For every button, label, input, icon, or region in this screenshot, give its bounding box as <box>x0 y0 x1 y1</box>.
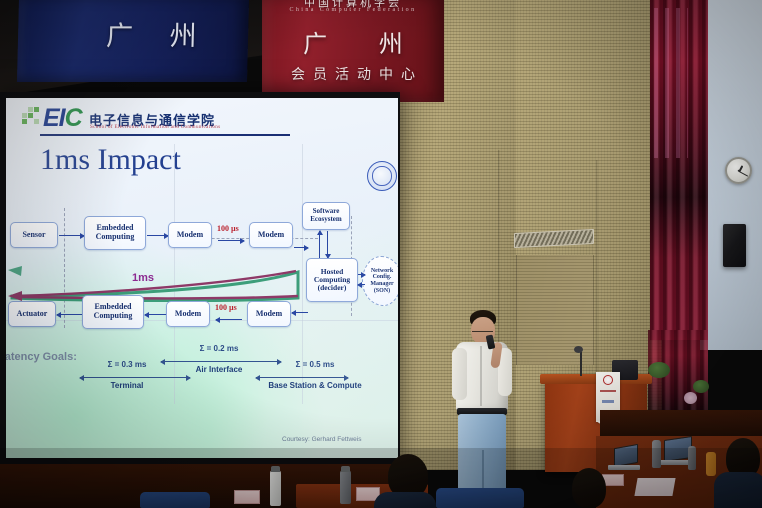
pennant-line-2 <box>602 400 614 403</box>
courtesy-credit: Courtesy: Gerhard Fettweis <box>282 436 361 443</box>
banner-red-org-en: China Computer Federation <box>262 7 444 13</box>
curtain-light <box>654 8 688 158</box>
latency-bar-terminal <box>80 377 190 378</box>
diagram-box-modem-bottom-left: Modem <box>166 301 210 327</box>
podium-mic-head <box>574 346 583 353</box>
label-1ms: 1ms <box>132 272 154 284</box>
podium-plant-2 <box>693 380 709 393</box>
banner-red-city: 广 州 <box>262 24 444 59</box>
eic-divider <box>40 134 290 136</box>
arrow-embedded-to-modem-top <box>147 235 168 236</box>
diagram-box-modem-bottom-right: Modem <box>247 301 291 327</box>
diagram-box-modem-top-left: Modem <box>168 222 212 248</box>
latency-name-basestation: Base Station & Compute <box>250 381 380 390</box>
presentation-slide: EIC 电子信息与通信学院 School of Electronic Infor… <box>6 98 398 458</box>
arrow-100us-bottom <box>216 319 242 320</box>
wall-speaker <box>723 224 746 267</box>
latency-value-air: Σ = 0.2 ms <box>154 344 284 353</box>
label-100us-bottom: 100 µs <box>215 303 237 312</box>
arrow-hosted-to-ecosystem <box>319 231 320 258</box>
arrow-100us-top <box>218 240 244 241</box>
latency-goals-heading: Latency Goals: <box>6 351 77 363</box>
diagram-box-embedded-bottom: EmbeddedComputing <box>82 295 144 329</box>
diagram-box-hosted-computing: HostedComputing(decider) <box>306 258 358 302</box>
university-seal <box>367 161 397 191</box>
label-100us-top: 100 µs <box>217 224 239 233</box>
arrow-ecosystem-to-hosted <box>327 231 328 258</box>
diagram-box-embedded-top: EmbeddedComputing <box>84 216 146 250</box>
arrow-hosted-to-cloud <box>358 284 365 285</box>
pennant-line-1 <box>600 390 616 392</box>
banner-red-venue: 会员活动中心 <box>262 64 444 84</box>
clock-center-pin <box>737 169 740 172</box>
diagram-box-modem-top-right: Modem <box>249 222 293 248</box>
projection-screen-frame: EIC 电子信息与通信学院 School of Electronic Infor… <box>0 92 400 464</box>
presenter-glasses <box>472 327 493 332</box>
eic-acronym-c: C <box>65 104 82 133</box>
diagram-cloud-network-manager: NetworkConfig.Manager(SON) <box>362 256 398 306</box>
shirt-placket <box>480 346 482 406</box>
presenter-arm-left <box>452 348 467 400</box>
banner-blue-guangzhou: 广 州 <box>17 0 249 82</box>
podium-plant <box>648 362 670 378</box>
wall-clock <box>725 157 752 184</box>
conference-hall-photo: 广 州 中国计算机学会 China Computer Federation 广 … <box>0 0 762 508</box>
eic-logo: EIC <box>43 104 82 133</box>
arrow-hosted-to-modem-bottom <box>292 312 308 313</box>
pennant-emblem <box>603 375 613 385</box>
slide-title: 1ms Impact <box>40 143 181 177</box>
eic-logo-squares <box>22 107 39 124</box>
podium-mic-stand <box>580 352 582 376</box>
podium-flower <box>684 392 697 404</box>
eic-school-en: School of Electronic Information and Com… <box>90 125 221 130</box>
latency-bar-basestation <box>256 377 348 378</box>
arrow-modem-to-hosted <box>294 247 308 248</box>
eic-acronym: EI <box>43 104 65 133</box>
diagram-box-software-ecosystem: SoftwareEcosystem <box>302 202 350 230</box>
banner-red-ccf: 中国计算机学会 China Computer Federation 广 州 会员… <box>262 0 444 102</box>
diagram-box-actuator: Actuator <box>8 301 56 327</box>
latency-name-terminal: Terminal <box>72 381 182 390</box>
arrow-embedded-to-actuator <box>57 314 82 315</box>
arrow-modem-to-embedded-bottom <box>145 314 166 315</box>
arrow-sensor-to-embedded <box>59 235 84 236</box>
latency-value-basestation: Σ = 0.5 ms <box>250 360 380 369</box>
arrow-cloud-to-hosted <box>358 274 365 275</box>
banner-blue-text: 广 州 <box>106 14 212 53</box>
room-dim-lower <box>0 448 762 508</box>
diagram-box-sensor: Sensor <box>10 222 58 248</box>
